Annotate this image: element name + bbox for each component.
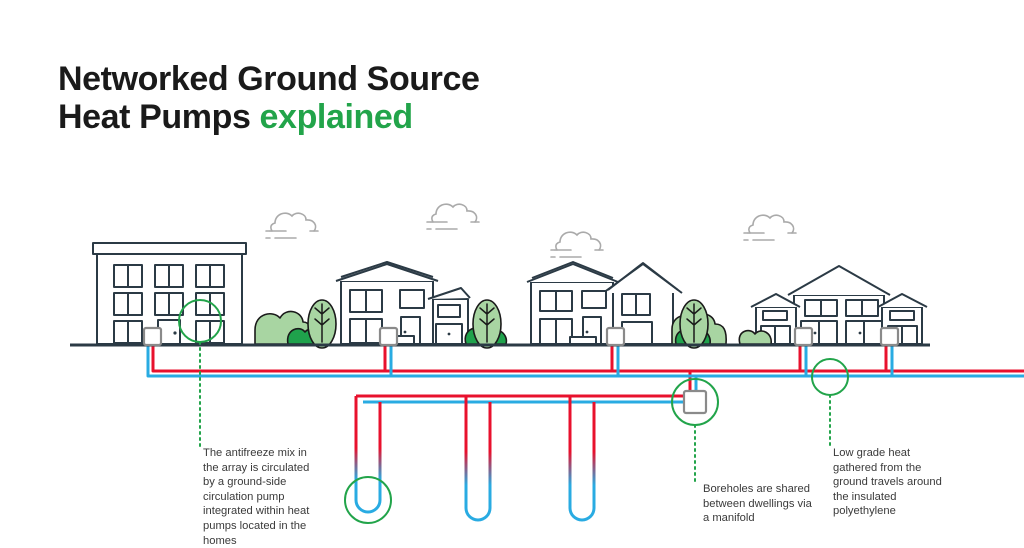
tree-icon bbox=[473, 300, 501, 348]
building-semi-detached-pair bbox=[527, 262, 682, 344]
building-apartment-block bbox=[93, 243, 246, 344]
tree-icon bbox=[308, 300, 336, 348]
heat-pump-box bbox=[881, 328, 898, 345]
heat-pump-box bbox=[144, 328, 161, 345]
caption-antifreeze-circulation: The antifreeze mix in the array is circu… bbox=[203, 446, 315, 548]
callout-borehole-loop bbox=[345, 477, 391, 523]
building-detached-house-garage bbox=[336, 262, 470, 344]
infographic-canvas: Networked Ground Source Heat Pumps expla… bbox=[0, 0, 1024, 536]
heat-pump-box bbox=[795, 328, 812, 345]
heat-pump-box bbox=[380, 328, 397, 345]
cloud-icon bbox=[266, 213, 318, 238]
cloud-icon bbox=[551, 232, 603, 257]
shrub-cluster bbox=[465, 300, 506, 348]
building-large-symmetrical-house bbox=[751, 266, 927, 344]
shrub-cluster bbox=[739, 331, 771, 344]
heat-pump-box bbox=[607, 328, 624, 345]
cloud-icon bbox=[427, 204, 479, 229]
cloud-icon bbox=[744, 215, 796, 240]
tree-icon bbox=[680, 300, 708, 348]
manifold-box bbox=[684, 391, 706, 413]
caption-low-grade-heat: Low grade heat gathered from the ground … bbox=[833, 446, 945, 519]
caption-borehole-manifold: Boreholes are shared between dwellings v… bbox=[703, 482, 815, 526]
shrub-cluster bbox=[255, 300, 336, 348]
shrub-cluster bbox=[672, 300, 726, 348]
